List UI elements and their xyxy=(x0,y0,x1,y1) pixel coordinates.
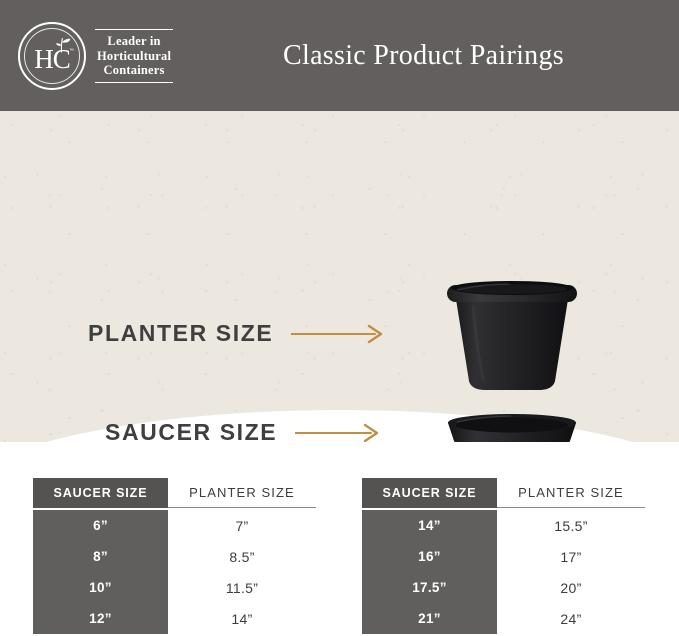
table-cell: 17” xyxy=(497,541,645,572)
tagline-line-2: Horticultural xyxy=(97,49,171,64)
table-header-row: SAUCER SIZE PLANTER SIZE xyxy=(362,478,645,508)
tagline-line-1: Leader in xyxy=(97,34,171,49)
table-body: 6” 8” 10” 12” 7” 8.5” 11.5” 14” xyxy=(33,510,316,634)
table-cell: 14” xyxy=(362,510,497,541)
planter-size-column: 7” 8.5” 11.5” 14” xyxy=(168,510,316,634)
saucer-size-label: SAUCER SIZE xyxy=(105,419,277,442)
table-cell: 17.5” xyxy=(362,572,497,603)
table-cell: 20” xyxy=(497,572,645,603)
planter-size-column: 15.5” 17” 20” 24” xyxy=(497,510,645,634)
saucer-size-column: 6” 8” 10” 12” xyxy=(33,510,168,634)
table-body: 14” 16” 17.5” 21” 15.5” 17” 20” 24” xyxy=(362,510,645,634)
size-table-left: SAUCER SIZE PLANTER SIZE 6” 8” 10” 12” 7… xyxy=(33,478,316,634)
hc-circle-logo-icon: HC ™ xyxy=(18,22,86,90)
black-saucer-tray-image xyxy=(445,410,579,442)
table-cell: 10” xyxy=(33,572,168,603)
column-header-planter-size: PLANTER SIZE xyxy=(497,478,645,508)
brand-tagline: Leader in Horticultural Containers xyxy=(95,29,173,83)
table-cell: 8” xyxy=(33,541,168,572)
size-tables-zone: SAUCER SIZE PLANTER SIZE 6” 8” 10” 12” 7… xyxy=(0,478,679,636)
saucer-size-column: 14” 16” 17.5” 21” xyxy=(362,510,497,634)
table-cell: 15.5” xyxy=(497,510,645,541)
tagline-line-3: Containers xyxy=(97,63,171,78)
black-planter-pot-image xyxy=(443,277,581,395)
planter-size-label: PLANTER SIZE xyxy=(88,320,273,347)
table-cell: 11.5” xyxy=(168,572,316,603)
table-cell: 7” xyxy=(168,510,316,541)
table-cell: 14” xyxy=(168,603,316,634)
table-cell: 12” xyxy=(33,603,168,634)
table-cell: 21” xyxy=(362,603,497,634)
table-cell: 6” xyxy=(33,510,168,541)
column-header-planter-size: PLANTER SIZE xyxy=(168,478,316,508)
saucer-size-row: SAUCER SIZE xyxy=(105,419,381,442)
table-cell: 16” xyxy=(362,541,497,572)
right-arrow-icon xyxy=(291,324,385,344)
table-cell: 8.5” xyxy=(168,541,316,572)
right-arrow-icon xyxy=(295,423,381,443)
column-header-saucer-size: SAUCER SIZE xyxy=(33,478,168,508)
header-bar: HC ™ Leader in Horticultural Containers … xyxy=(0,0,679,111)
table-header-row: SAUCER SIZE PLANTER SIZE xyxy=(33,478,316,508)
hero-panel: PLANTER SIZE SAUCER SIZE xyxy=(0,110,679,442)
brand-logo-block: HC ™ Leader in Horticultural Containers xyxy=(18,22,173,90)
column-header-saucer-size: SAUCER SIZE xyxy=(362,478,497,508)
size-table-right: SAUCER SIZE PLANTER SIZE 14” 16” 17.5” 2… xyxy=(362,478,645,634)
planter-size-row: PLANTER SIZE xyxy=(88,320,385,347)
table-cell: 24” xyxy=(497,603,645,634)
leaf-sprout-icon xyxy=(52,37,72,53)
